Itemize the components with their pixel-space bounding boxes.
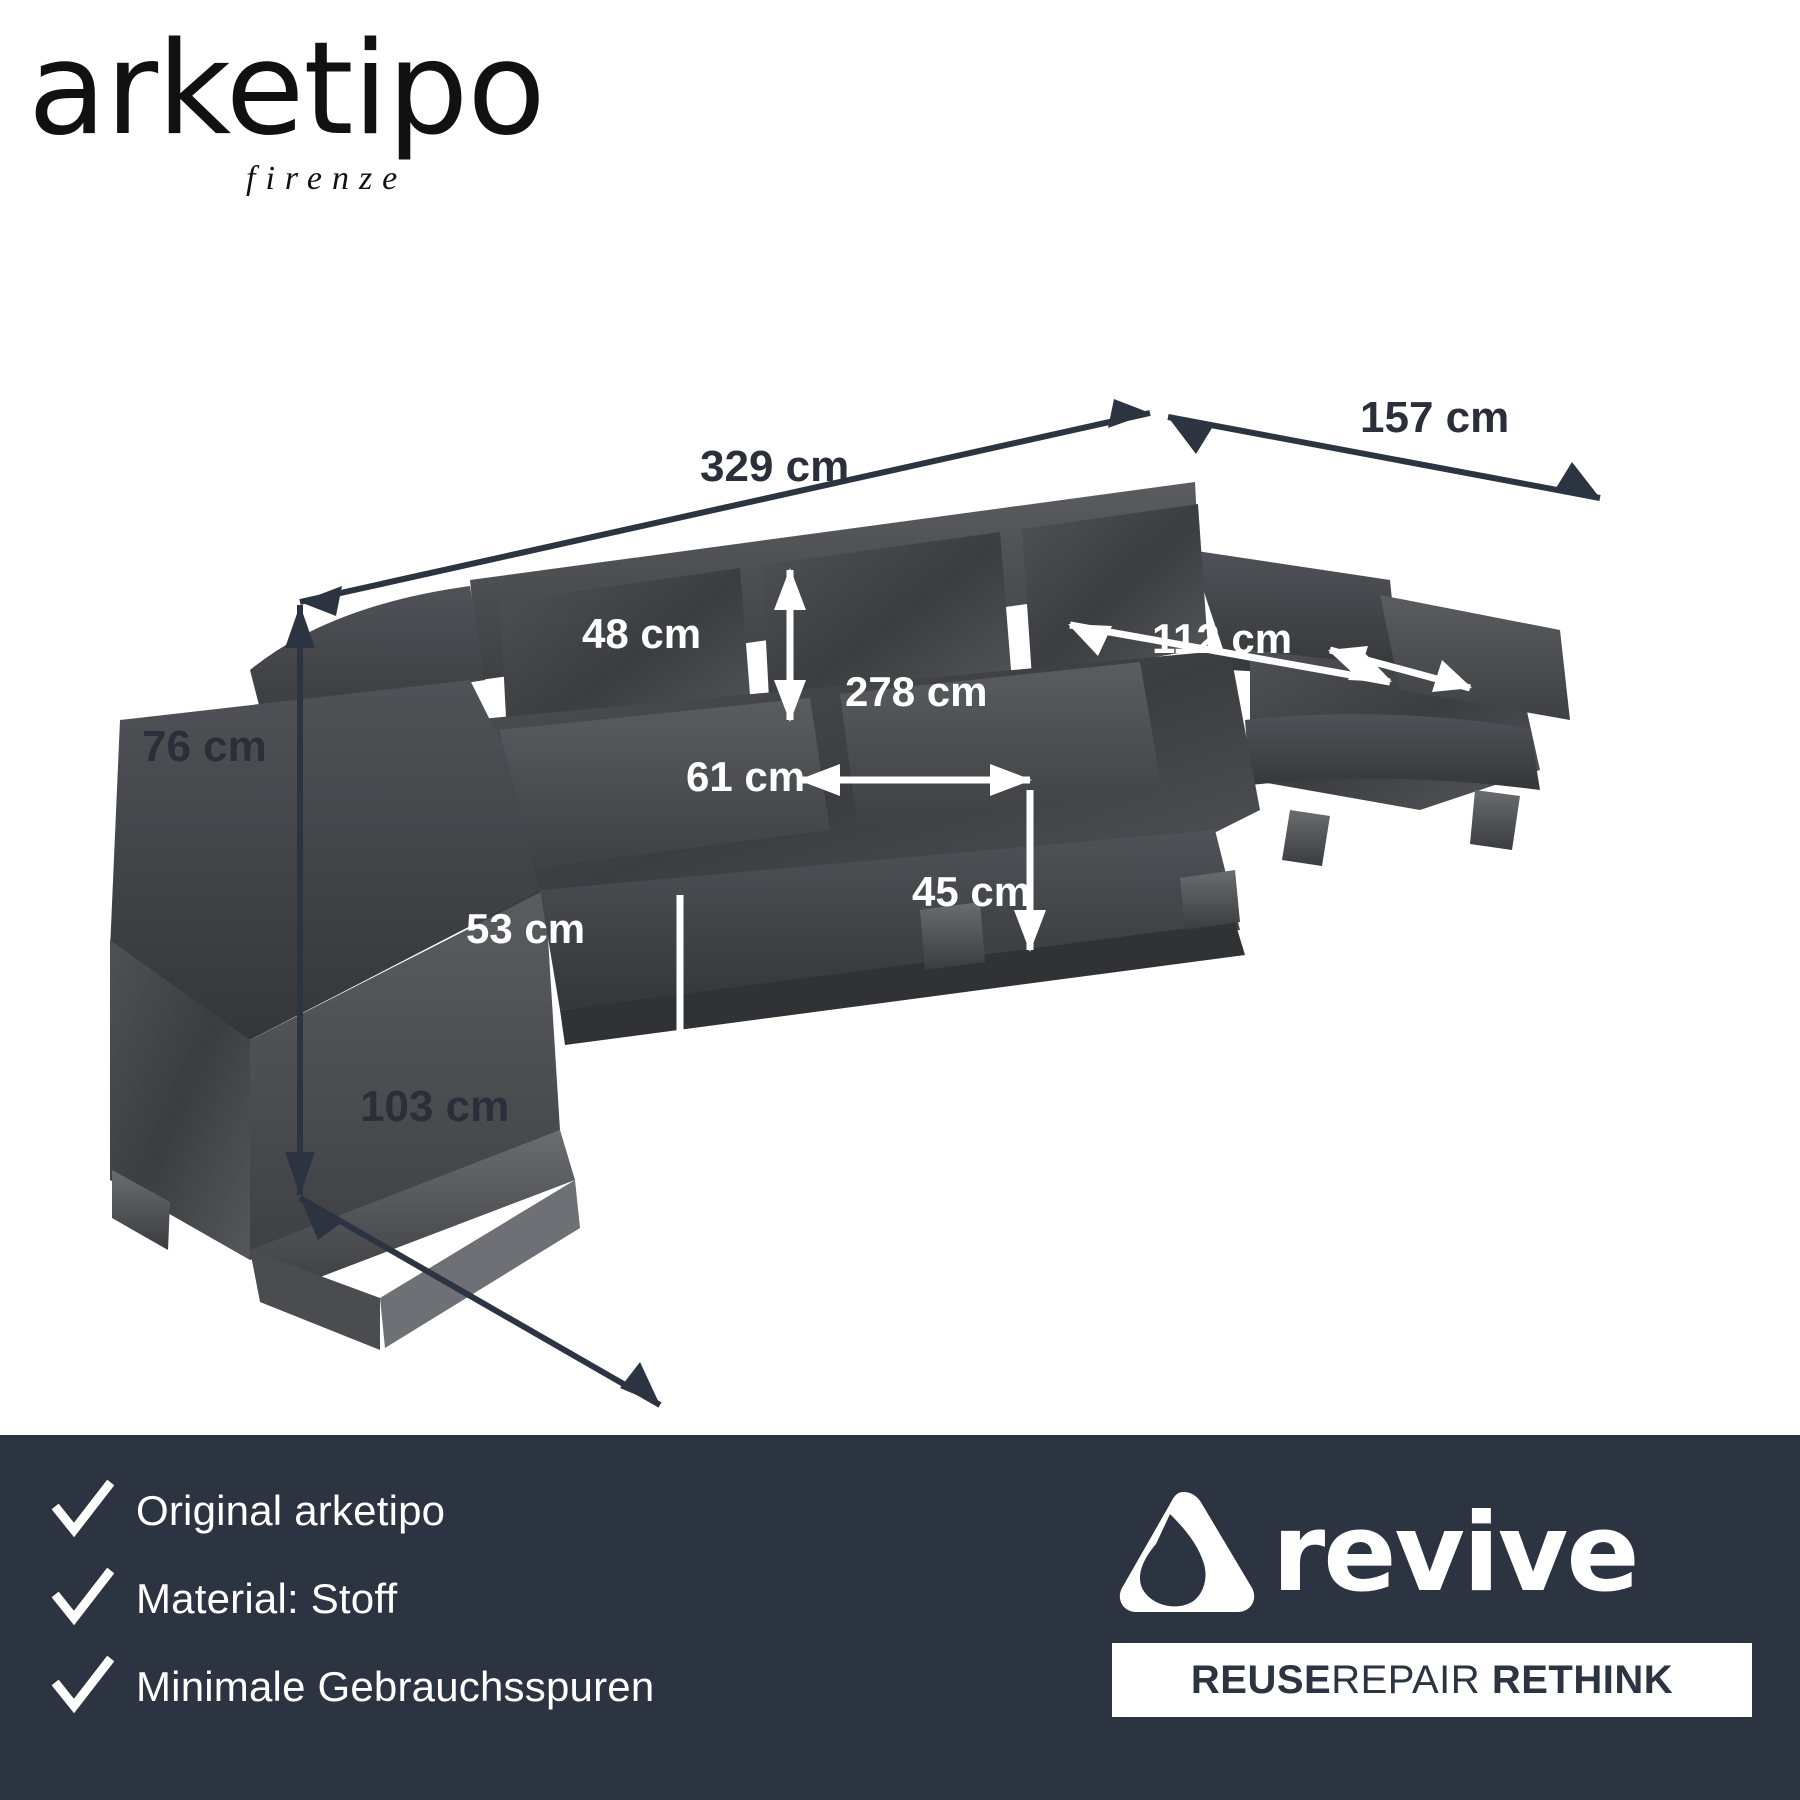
- dimension-label-seat-depth: 61 cm: [686, 753, 805, 801]
- check-icon: [52, 1568, 114, 1630]
- revive-wordmark: revive: [1272, 1500, 1638, 1608]
- dimension-label-seat-width: 278 cm: [845, 668, 987, 716]
- feature-label: Material: Stoff: [136, 1575, 397, 1623]
- dimension-label-seat-height: 45 cm: [912, 868, 1031, 916]
- product-illustration: 329 cm 157 cm 76 cm 103 cm 48 cm 61 cm 2…: [0, 250, 1800, 1430]
- feature-label: Minimale Gebrauchsspuren: [136, 1663, 654, 1711]
- brand-subtitle: firenze: [246, 160, 668, 198]
- dimension-label-armrest-height: 53 cm: [466, 905, 585, 953]
- revive-logo: revive REUSEREPAIR RETHINK: [1112, 1479, 1752, 1749]
- dimension-label-chaise-width: 112 cm: [1152, 615, 1292, 663]
- dimension-label-backrest-height: 48 cm: [582, 610, 701, 658]
- brand-name: arketipo: [28, 26, 668, 154]
- dimension-label-height-total: 76 cm: [142, 722, 267, 772]
- feature-label: Original arketipo: [136, 1487, 445, 1535]
- sofa-drawing: [0, 250, 1800, 1430]
- tagline-rethink: RETHINK: [1492, 1658, 1673, 1702]
- dimension-label-width-total: 329 cm: [700, 442, 849, 492]
- dimension-label-depth-total: 103 cm: [360, 1082, 509, 1132]
- check-icon: [52, 1480, 114, 1542]
- tagline-reuse: REUSE: [1191, 1658, 1331, 1702]
- list-item: Material: Stoff: [52, 1555, 654, 1643]
- list-item: Original arketipo: [52, 1467, 654, 1555]
- check-icon: [52, 1656, 114, 1718]
- feature-list: Original arketipo Material: Stoff Minima…: [52, 1467, 654, 1731]
- list-item: Minimale Gebrauchsspuren: [52, 1643, 654, 1731]
- revive-mark-icon: [1112, 1484, 1262, 1624]
- page-root: arketipo firenze: [0, 0, 1800, 1800]
- footer-bar: Original arketipo Material: Stoff Minima…: [0, 1435, 1800, 1800]
- revive-tagline: REUSEREPAIR RETHINK: [1112, 1643, 1752, 1717]
- brand-logo: arketipo firenze: [28, 26, 668, 226]
- dimension-label-depth-chaise: 157 cm: [1360, 393, 1509, 443]
- tagline-repair: REPAIR: [1331, 1658, 1480, 1702]
